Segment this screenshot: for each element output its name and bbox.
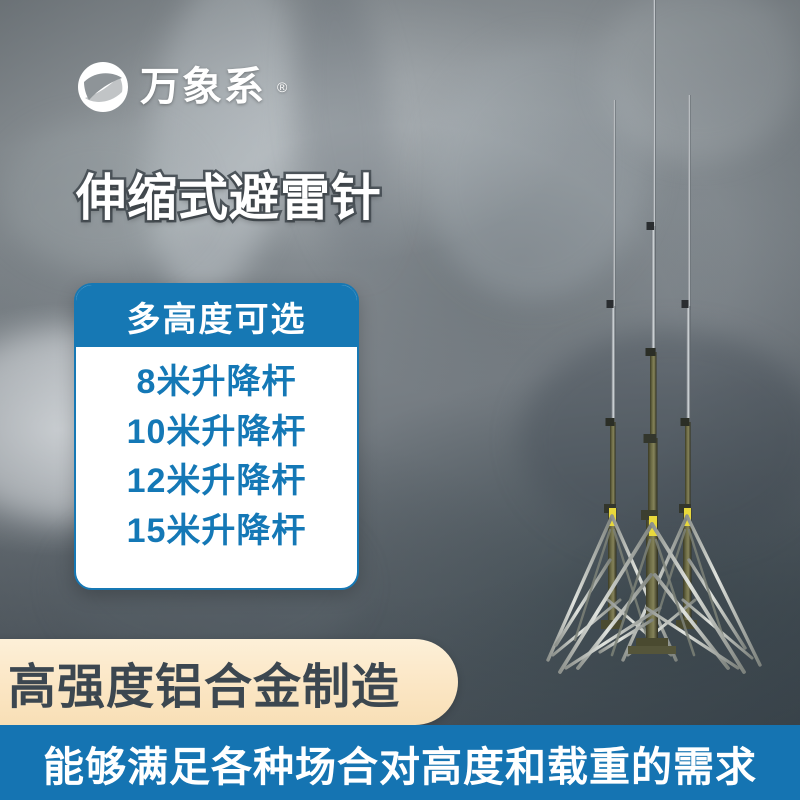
height-card-header: 多高度可选 bbox=[76, 285, 357, 347]
tagline-text: 能够满足各种场合对高度和载重的需求 bbox=[43, 733, 757, 793]
tagline-bar: 能够满足各种场合对高度和载重的需求 bbox=[0, 725, 800, 800]
list-item: 10米升降杆 bbox=[127, 411, 307, 455]
brand-logo: 万象系 ® bbox=[76, 60, 287, 114]
height-card-header-label: 多高度可选 bbox=[127, 292, 307, 341]
swoosh-circle-logo-icon bbox=[76, 60, 130, 114]
height-options-card: 多高度可选 8米升降杆 10米升降杆 12米升降杆 15米升降杆 bbox=[74, 283, 359, 590]
material-banner: 高强度铝合金制造 bbox=[0, 639, 458, 725]
list-item: 8米升降杆 bbox=[137, 361, 297, 405]
brand-name: 万象系 bbox=[140, 67, 266, 107]
mast-right bbox=[623, 95, 760, 665]
product-banner: 万象系 ® 伸缩式避雷针 多高度可选 8米升降杆 10米升降杆 12米升降杆 1… bbox=[0, 0, 800, 800]
page-title: 伸缩式避雷针 bbox=[76, 172, 382, 225]
registered-mark: ® bbox=[277, 79, 287, 95]
list-item: 15米升降杆 bbox=[127, 510, 307, 554]
height-card-list: 8米升降杆 10米升降杆 12米升降杆 15米升降杆 bbox=[76, 347, 357, 553]
list-item: 12米升降杆 bbox=[127, 460, 307, 504]
material-banner-text: 高强度铝合金制造 bbox=[8, 647, 400, 717]
